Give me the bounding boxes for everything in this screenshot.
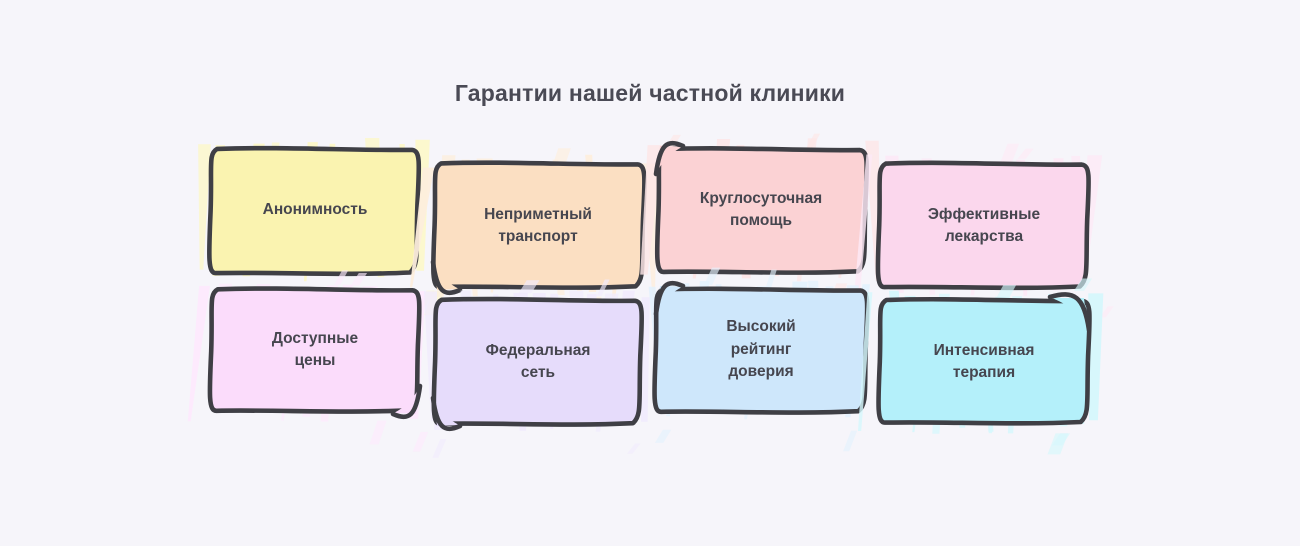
guarantee-card[interactable]: Доступные цены [211,288,419,412]
guarantee-card-label: Федеральная сеть [434,300,642,424]
guarantee-card[interactable]: Круглосуточная помощь [657,148,865,272]
guarantee-card-label: Анонимность [211,148,419,272]
guarantee-card[interactable]: Неприметный транспорт [434,164,642,288]
guarantee-card-label: Доступные цены [211,288,419,412]
guarantee-card[interactable]: Федеральная сеть [434,300,642,424]
guarantee-card[interactable]: Анонимность [211,148,419,272]
guarantee-card-label: Высокий рейтинг доверия [657,288,865,412]
guarantee-card-label: Интенсивная терапия [880,300,1088,424]
guarantee-card[interactable]: Высокий рейтинг доверия [657,288,865,412]
infographic-canvas: Гарантии нашей частной клиники Анонимнос… [0,0,1300,546]
guarantees-card-grid: Анонимность Неприметный транспорт Кругло… [0,0,1300,546]
guarantee-card-label: Эффективные лекарства [880,164,1088,288]
guarantee-card[interactable]: Эффективные лекарства [880,164,1088,288]
guarantee-card-label: Неприметный транспорт [434,164,642,288]
guarantee-card-label: Круглосуточная помощь [657,148,865,272]
guarantee-card[interactable]: Интенсивная терапия [880,300,1088,424]
